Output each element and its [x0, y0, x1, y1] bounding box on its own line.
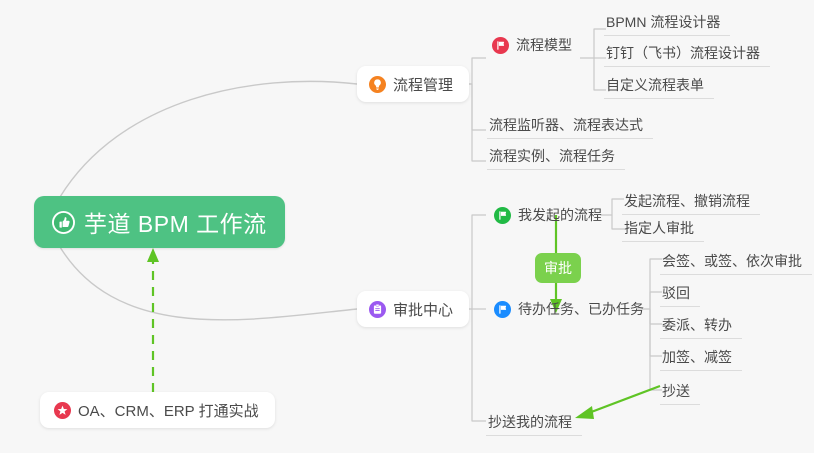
node-add-remove-sign-label: 加签、减签: [662, 344, 732, 370]
node-cc[interactable]: 抄送: [660, 375, 700, 405]
link-root-to-process-management: [60, 81, 357, 197]
annotation-approval-tag[interactable]: 审批: [535, 253, 581, 283]
annotation-arrow-cc: [586, 386, 660, 414]
thumbs-up-icon: [52, 211, 75, 234]
node-start-cancel-process[interactable]: 发起流程、撤销流程: [622, 185, 760, 215]
footnote-label: OA、CRM、ERP 打通实战: [78, 400, 259, 421]
link-approval-center-to-ccme: [472, 309, 486, 421]
node-dingtalk-feishu-designer[interactable]: 钉钉（飞书）流程设计器: [604, 37, 770, 67]
mindmap-canvas: 芋道 BPM 工作流 OA、CRM、ERP 打通实战 流程管理: [0, 0, 814, 453]
red-flag-icon: [492, 37, 509, 54]
footnote-node[interactable]: OA、CRM、ERP 打通实战: [40, 392, 275, 428]
annotation-arrowhead-up: [147, 248, 159, 262]
node-cc-to-me-process[interactable]: 抄送我的流程: [486, 406, 582, 436]
node-process-listener-expression-label: 流程监听器、流程表达式: [489, 112, 643, 138]
annotation-approval-tag-label: 审批: [544, 258, 572, 278]
node-my-initiated-process-label: 我发起的流程: [518, 202, 602, 228]
node-countersign-or-sequential[interactable]: 会签、或签、依次审批: [660, 245, 812, 275]
node-my-initiated-process[interactable]: 我发起的流程: [492, 200, 612, 230]
link-process-management-to-instance: [472, 84, 486, 161]
node-process-model-label: 流程模型: [516, 32, 572, 58]
clipboard-icon: [369, 301, 386, 318]
link-root-to-approval-center: [60, 247, 357, 320]
green-flag-icon: [494, 207, 511, 224]
node-delegate-transfer-label: 委派、转办: [662, 312, 732, 338]
branch-approval-center-label: 审批中心: [393, 299, 453, 320]
node-process-instance-task-label: 流程实例、流程任务: [489, 143, 615, 169]
node-cc-label: 抄送: [662, 378, 690, 404]
node-assigned-approval-label: 指定人审批: [624, 215, 694, 241]
star-icon: [54, 402, 71, 419]
root-node[interactable]: 芋道 BPM 工作流: [34, 196, 285, 248]
node-start-cancel-process-label: 发起流程、撤销流程: [624, 188, 750, 214]
blue-flag-icon: [494, 301, 511, 318]
node-delegate-transfer[interactable]: 委派、转办: [660, 309, 742, 339]
node-custom-process-form-label: 自定义流程表单: [606, 72, 704, 98]
node-reject-label: 驳回: [662, 280, 690, 306]
link-process-model-to-bpmn: [580, 29, 606, 58]
branch-process-management[interactable]: 流程管理: [357, 66, 469, 102]
node-dingtalk-feishu-designer-label: 钉钉（飞书）流程设计器: [606, 40, 760, 66]
node-process-instance-task[interactable]: 流程实例、流程任务: [487, 140, 625, 170]
node-todo-done-tasks-label: 待办任务、已办任务: [518, 296, 644, 322]
node-add-remove-sign[interactable]: 加签、减签: [660, 341, 742, 371]
node-assigned-approval[interactable]: 指定人审批: [622, 212, 704, 242]
node-countersign-or-sequential-label: 会签、或签、依次审批: [662, 248, 802, 274]
node-bpmn-designer[interactable]: BPMN 流程设计器: [604, 6, 730, 36]
branch-approval-center[interactable]: 审批中心: [357, 291, 469, 327]
node-bpmn-designer-label: BPMN 流程设计器: [606, 9, 720, 35]
node-todo-done-tasks[interactable]: 待办任务、已办任务: [492, 294, 654, 324]
node-cc-to-me-process-label: 抄送我的流程: [488, 409, 572, 435]
node-process-model[interactable]: 流程模型: [490, 30, 582, 60]
node-custom-process-form[interactable]: 自定义流程表单: [604, 69, 714, 99]
node-process-listener-expression[interactable]: 流程监听器、流程表达式: [487, 109, 653, 139]
branch-process-management-label: 流程管理: [393, 74, 453, 95]
lightbulb-icon: [369, 76, 386, 93]
node-reject[interactable]: 驳回: [660, 277, 700, 307]
root-label: 芋道 BPM 工作流: [84, 205, 267, 239]
